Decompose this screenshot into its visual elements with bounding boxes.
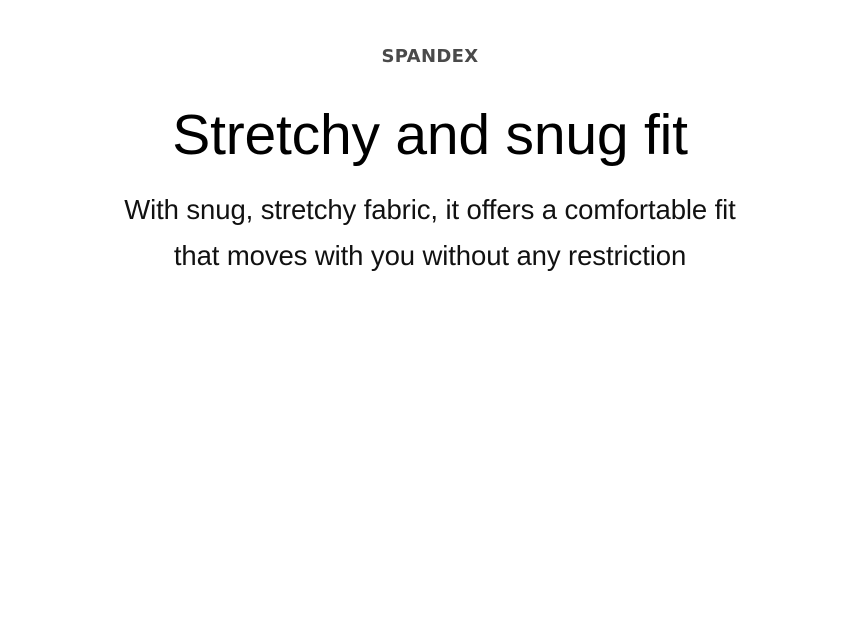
subcopy-line-2: that moves with you without any restrict… <box>0 233 860 279</box>
subcopy-line-1: With snug, stretchy fabric, it offers a … <box>0 187 860 233</box>
slide-content-block: SPANDEX Stretchy and snug fit With snug,… <box>0 0 860 279</box>
page-title: Stretchy and snug fit <box>0 70 860 166</box>
eyebrow-label: SPANDEX <box>0 0 860 70</box>
subcopy-paragraph: With snug, stretchy fabric, it offers a … <box>0 166 860 279</box>
product-feature-slide: SPANDEX Stretchy and snug fit With snug,… <box>0 0 860 623</box>
empty-content-area <box>0 300 860 623</box>
